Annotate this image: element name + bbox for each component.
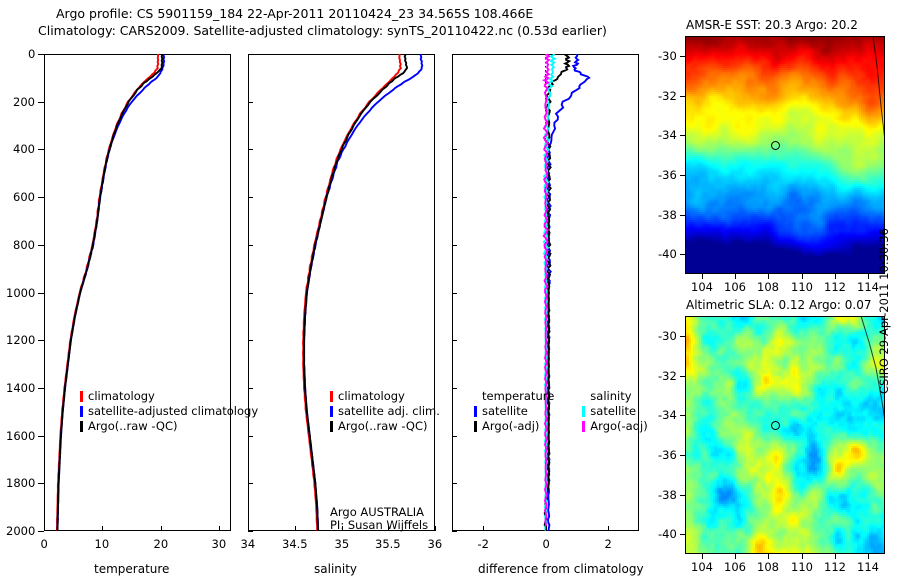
axis-tick: [680, 254, 685, 255]
axis-tick-label: -38: [658, 208, 677, 222]
axis-tick: [435, 526, 436, 531]
axis-tick-label: -38: [658, 488, 677, 502]
profile-line: [304, 54, 422, 531]
legend-label: satellite: [590, 406, 636, 417]
profile-line: [303, 54, 401, 531]
axis-tick-label: 106: [724, 280, 746, 294]
legend-color-swatch: [330, 406, 333, 417]
axis-tick-label: 0: [41, 537, 48, 551]
axis-tick: [38, 340, 44, 341]
axis-tick: [680, 215, 685, 216]
axis-tick: [680, 455, 685, 456]
axis-tick: [38, 149, 44, 150]
map-sla-title: Altimetric SLA: 0.12 Argo: 0.07: [686, 298, 871, 312]
axis-tick: [768, 274, 769, 279]
legend-item: satellite-adjusted climatology: [80, 404, 258, 419]
axis-tick-label: 112: [824, 280, 846, 294]
legend-item: satellite: [474, 404, 554, 419]
temperature-profile-plot: [44, 54, 231, 531]
figure-title-line1: Argo profile: CS 5901159_184 22-Apr-2011…: [56, 6, 533, 21]
axis-tick-label: 104: [691, 280, 713, 294]
legend-item: Argo(-adj): [474, 419, 554, 434]
legend-color-swatch: [330, 391, 333, 402]
axis-tick-label: -2: [478, 537, 489, 551]
axis-tick-label: 30: [212, 537, 227, 551]
csiro-timestamp: CSIRO 29-Apr-2011 10:30:36: [877, 378, 891, 394]
axis-tick: [835, 554, 836, 559]
axis-tick: [680, 56, 685, 57]
axis-tick: [38, 293, 44, 294]
axis-tick-label: 1000: [6, 286, 35, 300]
legend-color-swatch: [582, 406, 585, 417]
legend-item: Argo(-adj): [582, 419, 647, 434]
temperature-legend: climatologysatellite-adjusted climatolog…: [80, 389, 258, 434]
axis-tick: [702, 554, 703, 559]
legend-label: Argo(..raw -QC): [338, 421, 428, 432]
axis-tick: [248, 531, 253, 532]
profile-line: [547, 54, 590, 531]
axis-tick: [102, 526, 103, 531]
legend-color-swatch: [330, 421, 333, 432]
legend-label: climatology: [338, 391, 405, 402]
map-sst-frame: [685, 36, 885, 274]
legend-color-swatch: [582, 421, 585, 432]
axis-tick: [546, 526, 547, 531]
legend-color-swatch: [474, 406, 477, 417]
legend-group-header: temperature: [474, 389, 554, 404]
legend-label: Argo(..raw -QC): [88, 421, 178, 432]
legend-item: climatology: [80, 389, 258, 404]
legend-label: satellite adj. clim.: [338, 406, 440, 417]
axis-tick: [802, 274, 803, 279]
axis-tick: [735, 274, 736, 279]
axis-tick: [680, 415, 685, 416]
axis-tick-label: 110: [791, 560, 813, 574]
profile-line: [57, 54, 162, 531]
axis-tick-label: -40: [658, 527, 677, 541]
credit-argo-australia: Argo AUSTRALIA: [330, 505, 424, 519]
axis-tick-label: 112: [824, 560, 846, 574]
axis-tick: [680, 495, 685, 496]
axis-tick-label: 2: [605, 537, 612, 551]
axis-tick-label: 0: [28, 47, 35, 61]
axis-tick-label: 10: [95, 537, 110, 551]
axis-tick: [680, 534, 685, 535]
axis-tick-label: 35: [335, 537, 350, 551]
axis-tick: [295, 526, 296, 531]
difference-axis-label: difference from climatology: [478, 562, 644, 576]
axis-tick: [680, 376, 685, 377]
profile-line: [57, 54, 164, 531]
legend-item: Argo(..raw -QC): [80, 419, 258, 434]
axis-tick: [38, 54, 44, 55]
axis-tick-label: 800: [13, 238, 35, 252]
axis-tick-label: -32: [658, 89, 677, 103]
legend-color-swatch: [80, 391, 83, 402]
legend-color-swatch: [80, 406, 83, 417]
axis-tick-label: 400: [13, 142, 35, 156]
axis-tick-label: 1600: [6, 429, 35, 443]
profile-line: [545, 54, 570, 531]
legend-column: salinitysatelliteArgo(-adj): [582, 389, 647, 434]
axis-tick: [38, 102, 44, 103]
legend-item: satellite: [582, 404, 647, 419]
axis-tick: [38, 483, 44, 484]
legend-color-swatch: [474, 421, 477, 432]
axis-tick-label: -34: [658, 408, 677, 422]
axis-tick-label: -40: [658, 247, 677, 261]
axis-tick: [483, 526, 484, 531]
axis-tick: [868, 274, 869, 279]
legend-group-header: salinity: [582, 389, 647, 404]
legend-label: climatology: [88, 391, 155, 402]
figure-title-line2: Climatology: CARS2009. Satellite-adjuste…: [38, 23, 607, 38]
legend-item: satellite adj. clim.: [330, 404, 440, 419]
axis-tick-label: -30: [658, 49, 677, 63]
legend-label: satellite: [482, 406, 528, 417]
axis-tick: [680, 336, 685, 337]
axis-tick-label: 106: [724, 560, 746, 574]
axis-tick: [452, 531, 457, 532]
panel-temperature: [44, 54, 231, 531]
difference-legend: temperaturesatelliteArgo(-adj)salinitysa…: [474, 389, 648, 434]
axis-tick-label: -30: [658, 329, 677, 343]
axis-tick-label: 114: [857, 280, 879, 294]
salinity-profile-plot: [248, 54, 435, 531]
profile-line: [304, 54, 407, 531]
difference-profile-plot: [452, 54, 639, 531]
map-sla-frame: [685, 316, 885, 554]
axis-tick: [161, 526, 162, 531]
legend-label: Argo(-adj): [482, 421, 539, 432]
difference-legend-columns: temperaturesatelliteArgo(-adj)salinitysa…: [474, 389, 648, 434]
axis-tick: [38, 388, 44, 389]
axis-tick-label: 20: [154, 537, 169, 551]
legend-item: Argo(..raw -QC): [330, 419, 440, 434]
salinity-axis-label: salinity: [314, 562, 357, 576]
axis-tick: [680, 135, 685, 136]
axis-tick-label: 108: [757, 560, 779, 574]
axis-tick-label: 1400: [6, 381, 35, 395]
axis-tick-label: -32: [658, 369, 677, 383]
legend-label: Argo(-adj): [590, 421, 647, 432]
panel-salinity: [248, 54, 435, 531]
axis-tick: [735, 554, 736, 559]
axis-tick: [38, 245, 44, 246]
map-sst[interactable]: [685, 36, 885, 274]
legend-column: temperaturesatelliteArgo(-adj): [474, 389, 554, 434]
axis-tick-label: 34.5: [282, 537, 308, 551]
axis-tick-label: 600: [13, 190, 35, 204]
axis-tick: [38, 436, 44, 437]
axis-tick: [702, 274, 703, 279]
axis-tick-label: 200: [13, 95, 35, 109]
axis-tick: [219, 526, 220, 531]
legend-label: satellite-adjusted climatology: [88, 406, 258, 417]
axis-tick-label: 1800: [6, 476, 35, 490]
axis-tick: [868, 554, 869, 559]
axis-tick: [248, 526, 249, 531]
axis-tick-label: 36: [428, 537, 443, 551]
axis-tick: [44, 526, 45, 531]
axis-tick-label: 2000: [6, 524, 35, 538]
axis-tick-label: 0: [543, 537, 550, 551]
axis-tick-label: 34: [241, 537, 256, 551]
axis-tick: [680, 96, 685, 97]
axis-tick: [38, 197, 44, 198]
figure-canvas: Argo profile: CS 5901159_184 22-Apr-2011…: [0, 0, 900, 580]
axis-tick-label: -36: [658, 448, 677, 462]
map-sla[interactable]: [685, 316, 885, 554]
axis-tick: [835, 274, 836, 279]
salinity-legend: climatologysatellite adj. clim.Argo(..ra…: [330, 389, 440, 434]
temperature-axis-label: temperature: [94, 562, 169, 576]
profile-line: [57, 54, 158, 531]
axis-tick-label: 1200: [6, 333, 35, 347]
argo-position-marker-sla: [771, 421, 780, 430]
axis-tick-label: -34: [658, 128, 677, 142]
panel-difference: [452, 54, 639, 531]
axis-tick: [608, 526, 609, 531]
legend-item: climatology: [330, 389, 440, 404]
axis-tick: [38, 531, 44, 532]
axis-tick: [680, 175, 685, 176]
axis-tick: [768, 554, 769, 559]
axis-tick-label: 35.5: [375, 537, 401, 551]
credit-principal-investigator: PI: Susan Wijffels: [330, 518, 428, 532]
map-sst-title: AMSR-E SST: 20.3 Argo: 20.2: [686, 18, 858, 32]
axis-tick-label: 104: [691, 560, 713, 574]
axis-tick-label: 108: [757, 280, 779, 294]
axis-tick-label: -36: [658, 168, 677, 182]
axis-tick-label: 110: [791, 280, 813, 294]
axis-tick: [802, 554, 803, 559]
axis-tick-label: 114: [857, 560, 879, 574]
legend-color-swatch: [80, 421, 83, 432]
argo-position-marker-sst: [771, 141, 780, 150]
